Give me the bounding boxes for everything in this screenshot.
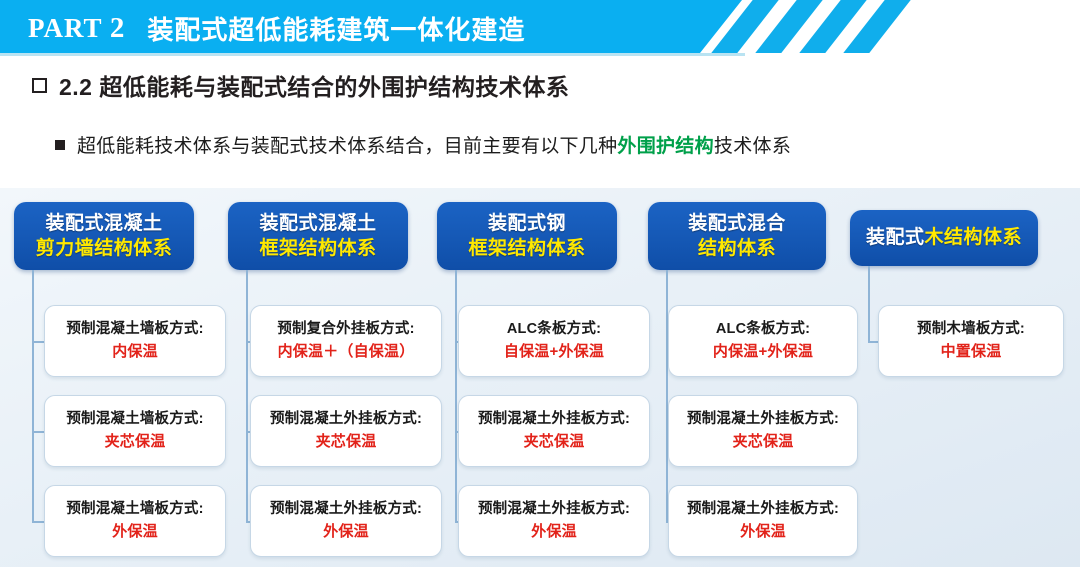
- column-header-line-1: 装配式钢: [488, 211, 566, 236]
- diagram-card[interactable]: 预制混凝土外挂板方式:夹芯保温: [250, 395, 442, 467]
- diagram-card[interactable]: 预制混凝土外挂板方式:夹芯保温: [668, 395, 858, 467]
- card-value: 夹芯保温: [524, 431, 585, 454]
- section-title-text: 2.2 超低能耗与装配式结合的外围护结构技术体系: [59, 68, 569, 102]
- banner-part-word: PART: [28, 13, 102, 43]
- diagram-card[interactable]: ALC条板方式:自保温+外保温: [458, 305, 650, 377]
- diagram-card[interactable]: 预制混凝土外挂板方式:外保温: [668, 485, 858, 557]
- card-value: 内保温: [112, 341, 158, 364]
- connector-branch: [32, 341, 44, 343]
- banner-underline: [0, 53, 745, 56]
- column-header-line-2: 结构体系: [698, 236, 776, 261]
- card-title: 预制混凝土外挂板方式:: [687, 499, 839, 521]
- column-header-line-1: 装配式混凝土: [259, 211, 376, 236]
- card-title: 预制混凝土外挂板方式:: [478, 409, 630, 431]
- column-header-line-2: 剪力墙结构体系: [36, 236, 173, 261]
- card-value: 中置保温: [941, 341, 1002, 364]
- card-value: 内保温+外保温: [713, 341, 813, 364]
- column-header-line-gold: 木结构体系: [925, 227, 1023, 248]
- page-header-banner: PART 2 装配式超低能耗建筑一体化建造: [0, 0, 1080, 56]
- connector-trunk: [32, 270, 34, 521]
- connector-trunk: [666, 270, 668, 521]
- diagram-card[interactable]: 预制混凝土外挂板方式:外保温: [458, 485, 650, 557]
- bullet-text: 超低能耗技术体系与装配式技术体系结合，目前主要有以下几种外围护结构技术体系: [77, 131, 791, 158]
- card-value: 夹芯保温: [316, 431, 377, 454]
- column-header-precast-concrete-frame[interactable]: 装配式混凝土框架结构体系: [228, 202, 408, 270]
- diagram-card[interactable]: 预制混凝土墙板方式:内保温: [44, 305, 226, 377]
- square-outline-icon: [32, 78, 47, 93]
- banner-part-label: PART 2: [28, 12, 125, 45]
- column-header-precast-concrete-shear-wall[interactable]: 装配式混凝土剪力墙结构体系: [14, 202, 194, 270]
- diagram-card[interactable]: 预制混凝土外挂板方式:外保温: [250, 485, 442, 557]
- connector-trunk: [455, 270, 457, 521]
- card-value: 外保温: [112, 521, 158, 544]
- diagram-card[interactable]: 预制木墙板方式:中置保温: [878, 305, 1064, 377]
- card-title: 预制混凝土外挂板方式:: [687, 409, 839, 431]
- banner-heading-text: 装配式超低能耗建筑一体化建造: [147, 10, 525, 47]
- card-value: 自保温+外保温: [504, 341, 604, 364]
- card-title: 预制混凝土墙板方式:: [66, 409, 203, 431]
- card-title: 预制混凝土墙板方式:: [66, 499, 203, 521]
- banner-part-number: 2: [110, 12, 126, 44]
- bullet-text-after: 技术体系: [714, 136, 791, 157]
- column-header-line-1: 装配式混合: [688, 211, 786, 236]
- bullet-row: 超低能耗技术体系与装配式技术体系结合，目前主要有以下几种外围护结构技术体系: [55, 131, 791, 158]
- card-value: 夹芯保温: [733, 431, 794, 454]
- card-title: 预制复合外挂板方式:: [277, 319, 414, 341]
- card-value: 夹芯保温: [105, 431, 166, 454]
- square-filled-icon: [55, 140, 65, 150]
- column-header-precast-timber[interactable]: 装配式木结构体系: [850, 210, 1038, 266]
- card-title: 预制混凝土外挂板方式:: [478, 499, 630, 521]
- diagram-card[interactable]: ALC条板方式:内保温+外保温: [668, 305, 858, 377]
- connector-branch: [32, 431, 44, 433]
- card-title: 预制混凝土外挂板方式:: [270, 409, 422, 431]
- diagram-card[interactable]: 预制混凝土墙板方式:夹芯保温: [44, 395, 226, 467]
- column-header-line-2: 框架结构体系: [468, 236, 585, 261]
- section-title: 2.2 超低能耗与装配式结合的外围护结构技术体系: [32, 68, 569, 102]
- connector-branch: [32, 521, 44, 523]
- card-value: 外保温: [323, 521, 369, 544]
- diagram-card[interactable]: 预制混凝土外挂板方式:夹芯保温: [458, 395, 650, 467]
- diagram-card[interactable]: 预制混凝土墙板方式:外保温: [44, 485, 226, 557]
- bullet-text-highlight: 外围护结构: [617, 136, 714, 157]
- card-value: 外保温: [531, 521, 577, 544]
- bullet-text-before: 超低能耗技术体系与装配式技术体系结合，目前主要有以下几种: [77, 136, 617, 157]
- card-value: 内保温＋（自保温）: [278, 341, 415, 364]
- connector-trunk: [246, 270, 248, 521]
- column-header-line: 装配式木结构体系: [866, 225, 1022, 250]
- column-header-precast-hybrid[interactable]: 装配式混合结构体系: [648, 202, 826, 270]
- card-title: 预制木墙板方式:: [917, 319, 1025, 341]
- column-header-precast-steel-frame[interactable]: 装配式钢框架结构体系: [437, 202, 617, 270]
- card-value: 外保温: [740, 521, 786, 544]
- diagram-card[interactable]: 预制复合外挂板方式:内保温＋（自保温）: [250, 305, 442, 377]
- connector-trunk: [868, 266, 870, 341]
- structure-diagram: 装配式混凝土剪力墙结构体系预制混凝土墙板方式:内保温预制混凝土墙板方式:夹芯保温…: [0, 188, 1080, 567]
- column-header-line-1: 装配式混凝土: [45, 211, 162, 236]
- connector-branch: [868, 341, 878, 343]
- card-title: ALC条板方式:: [507, 319, 601, 341]
- column-header-line-white: 装配式: [866, 227, 925, 248]
- card-title: ALC条板方式:: [716, 319, 810, 341]
- card-title: 预制混凝土墙板方式:: [66, 319, 203, 341]
- column-header-line-2: 框架结构体系: [259, 236, 376, 261]
- banner-title: PART 2 装配式超低能耗建筑一体化建造: [28, 5, 525, 51]
- card-title: 预制混凝土外挂板方式:: [270, 499, 422, 521]
